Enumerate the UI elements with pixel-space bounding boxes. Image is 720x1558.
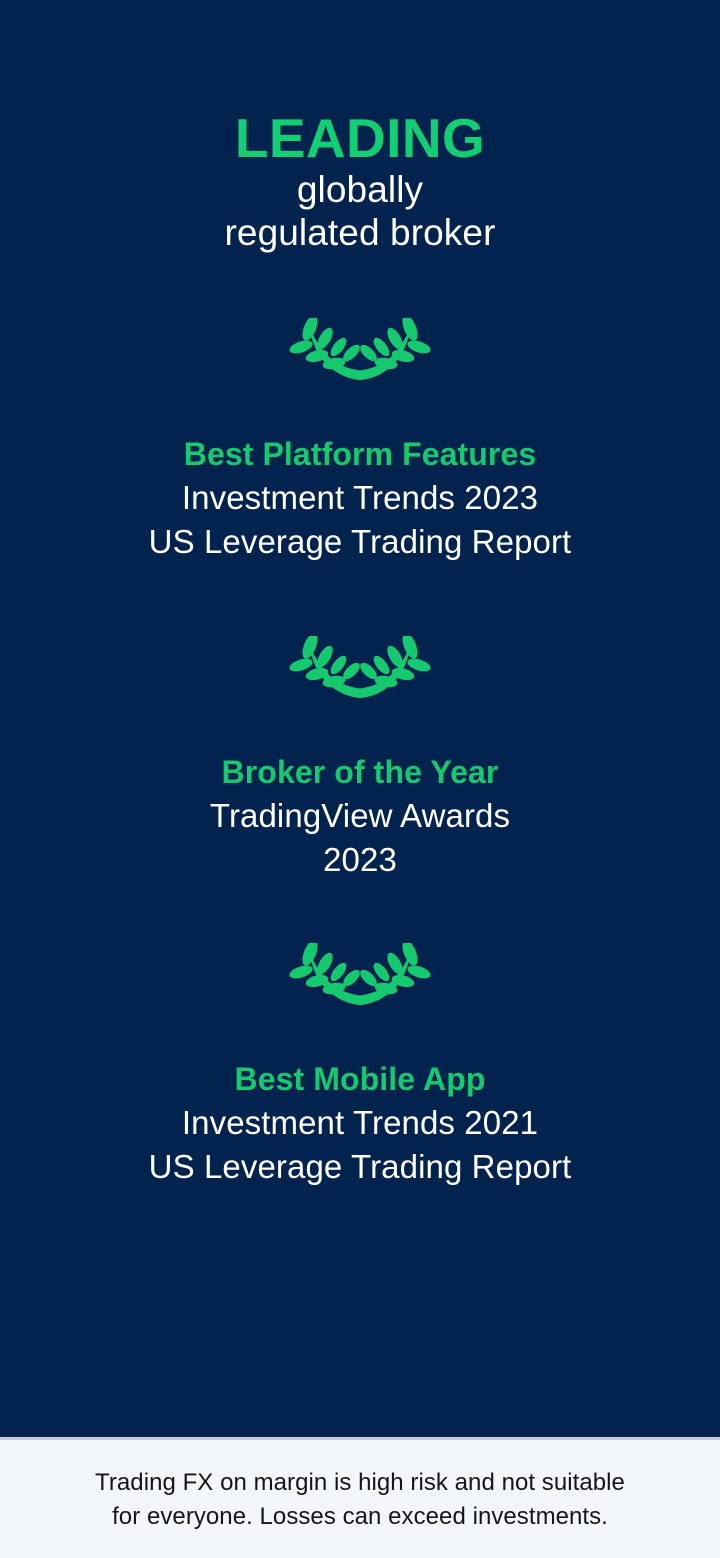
award-title: Best Mobile App [0, 1057, 720, 1101]
laurel-wreath-icon [0, 318, 720, 384]
award-detail-line-1: Investment Trends 2021 [0, 1101, 720, 1145]
award-item-best-mobile-app: Best Mobile App Investment Trends 2021 U… [0, 943, 720, 1189]
award-title: Best Platform Features [0, 432, 720, 476]
award-text-block: Best Platform Features Investment Trends… [0, 432, 720, 564]
award-text-block: Best Mobile App Investment Trends 2021 U… [0, 1057, 720, 1189]
disclaimer-line-1: Trading FX on margin is high risk and no… [24, 1466, 696, 1500]
award-detail-line-2: US Leverage Trading Report [0, 520, 720, 564]
headline-subtitle-line-2: regulated broker [0, 211, 720, 254]
award-detail-line-1: Investment Trends 2023 [0, 476, 720, 520]
award-detail-line-1: TradingView Awards [0, 794, 720, 838]
headline-emphasis: LEADING [0, 108, 720, 168]
laurel-wreath-icon [0, 943, 720, 1009]
disclaimer-text: Trading FX on margin is high risk and no… [24, 1466, 696, 1534]
award-text-block: Broker of the Year TradingView Awards 20… [0, 750, 720, 882]
headline-subtitle: globally regulated broker [0, 168, 720, 254]
awards-promo-page: LEADING globally regulated broker [0, 0, 720, 1558]
laurel-wreath-icon [0, 636, 720, 702]
hero-panel: LEADING globally regulated broker [0, 0, 720, 1437]
award-detail-line-2: US Leverage Trading Report [0, 1145, 720, 1189]
award-detail-line-2: 2023 [0, 838, 720, 882]
award-title: Broker of the Year [0, 750, 720, 794]
award-item-best-platform-features: Best Platform Features Investment Trends… [0, 318, 720, 564]
headline-subtitle-line-1: globally [0, 168, 720, 211]
award-item-broker-of-the-year: Broker of the Year TradingView Awards 20… [0, 636, 720, 882]
risk-disclaimer: Trading FX on margin is high risk and no… [0, 1440, 720, 1558]
disclaimer-line-2: for everyone. Losses can exceed investme… [24, 1500, 696, 1534]
headline-block: LEADING globally regulated broker [0, 108, 720, 254]
